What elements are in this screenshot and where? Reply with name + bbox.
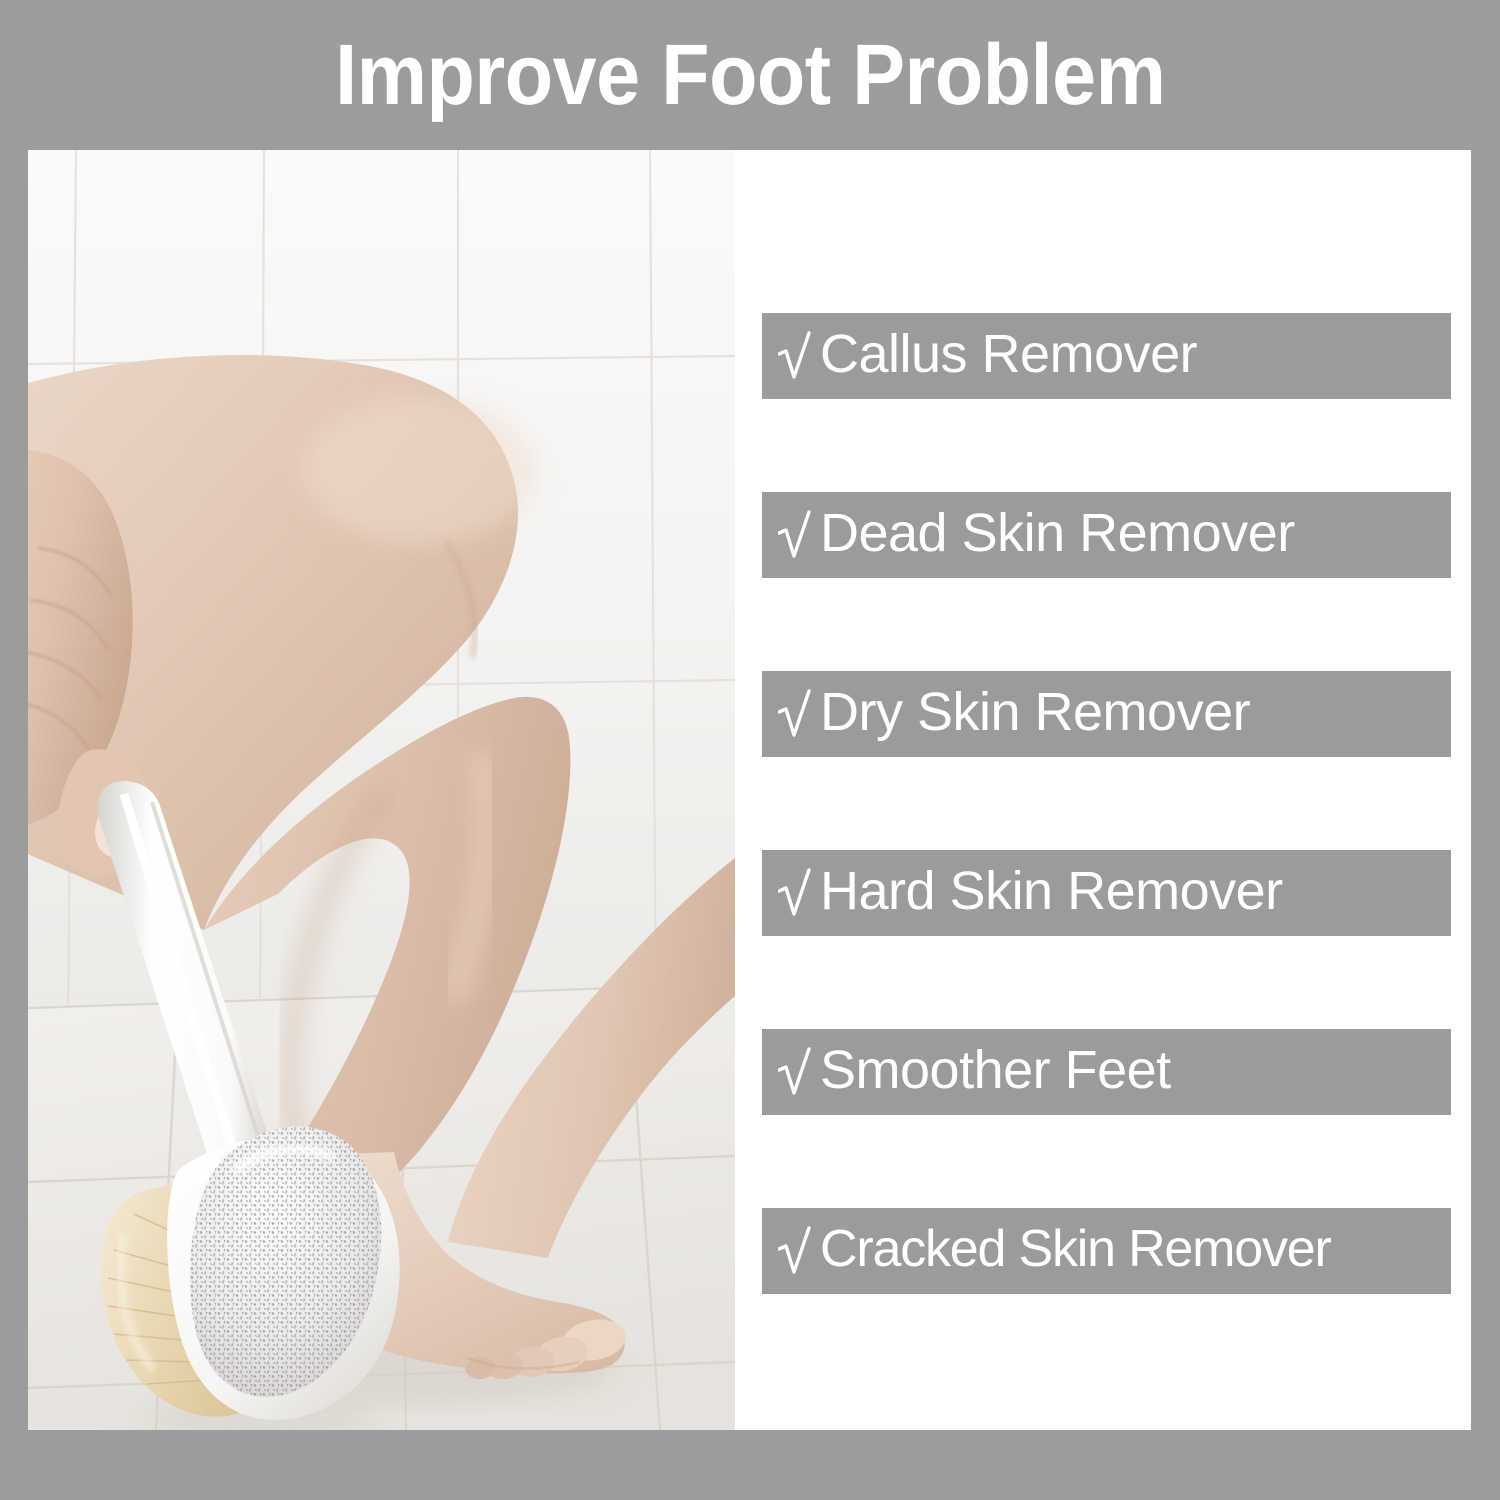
feature-label: Callus Remover (820, 327, 1197, 381)
feature-row-dry-skin-remover[interactable]: Dry Skin Remover (762, 671, 1451, 757)
feature-row-callus-remover[interactable]: Callus Remover (762, 313, 1451, 399)
check-mark-icon (778, 688, 812, 740)
content-frame: Callus Remover Dead Skin Remover Dry Ski… (28, 150, 1471, 1430)
check-mark-icon (778, 1046, 812, 1098)
check-mark-icon (778, 330, 812, 382)
feature-label: Dead Skin Remover (820, 506, 1295, 560)
feature-row-hard-skin-remover[interactable]: Hard Skin Remover (762, 850, 1451, 936)
product-photo-illustration (28, 150, 735, 1430)
knee-highlight (302, 396, 538, 544)
feature-label: Dry Skin Remover (820, 685, 1250, 739)
check-mark-icon (778, 867, 812, 919)
check-mark-icon (778, 1225, 812, 1277)
poster-header: Improve Foot Problem (0, 0, 1500, 150)
feature-label: Hard Skin Remover (820, 864, 1283, 918)
feature-label: Smoother Feet (820, 1043, 1171, 1097)
page-title: Improve Foot Problem (335, 32, 1165, 118)
product-feature-poster: Improve Foot Problem (0, 0, 1500, 1500)
feature-list: Callus Remover Dead Skin Remover Dry Ski… (735, 150, 1471, 1430)
feature-label: Cracked Skin Remover (820, 1223, 1331, 1275)
product-photo (28, 150, 735, 1430)
feature-row-cracked-skin-remover[interactable]: Cracked Skin Remover (762, 1208, 1451, 1294)
feature-row-smoother-feet[interactable]: Smoother Feet (762, 1029, 1451, 1115)
feature-row-dead-skin-remover[interactable]: Dead Skin Remover (762, 492, 1451, 578)
check-mark-icon (778, 509, 812, 561)
